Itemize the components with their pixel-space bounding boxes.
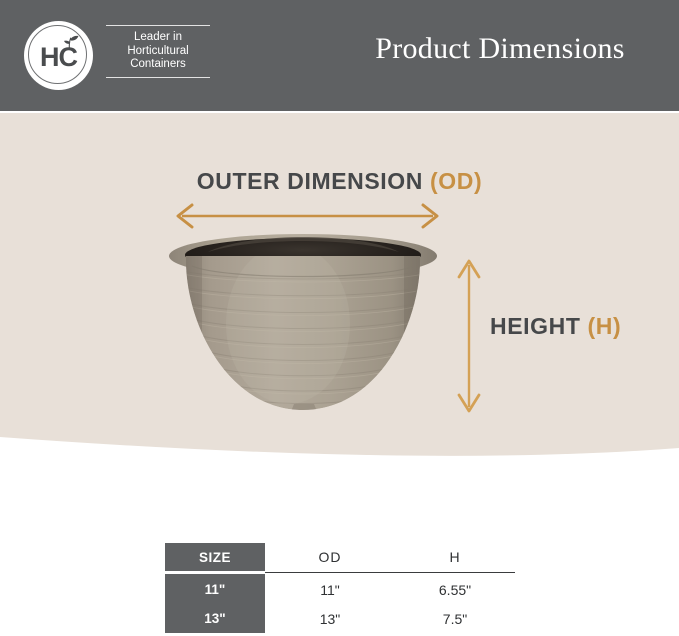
table-header-h: H bbox=[395, 543, 515, 571]
table-header-divider bbox=[265, 572, 515, 573]
table-row: 11" bbox=[165, 575, 265, 604]
header-bar: HC Leader in Horticultural Containers Pr… bbox=[0, 0, 679, 111]
height-arrow-icon bbox=[452, 255, 486, 417]
od-label-accent: (OD) bbox=[430, 168, 482, 194]
product-dimensions-infographic: HC Leader in Horticultural Containers Pr… bbox=[0, 0, 679, 636]
logo-divider-bottom bbox=[106, 77, 210, 78]
page-title: Product Dimensions bbox=[340, 32, 660, 66]
outer-dimension-arrow-icon bbox=[170, 201, 445, 231]
table-cell-h-row2: 7.5" bbox=[395, 604, 515, 633]
height-label-main: HEIGHT bbox=[490, 313, 587, 339]
brand-logo: HC Leader in Horticultural Containers bbox=[24, 21, 184, 91]
od-label-main: OUTER DIMENSION bbox=[197, 168, 430, 194]
outer-dimension-label: OUTER DIMENSION (OD) bbox=[0, 168, 679, 195]
table-row: 13" bbox=[165, 604, 265, 633]
height-label-accent: (H) bbox=[587, 313, 621, 339]
logo-tagline-line-3: Containers bbox=[106, 58, 210, 72]
logo-tagline-line-1: Leader in bbox=[106, 31, 210, 45]
logo-monogram: HC bbox=[24, 21, 93, 90]
specifications-table: SIZE OD H 11" 11" 6.55" 13" 13" 7.5" bbox=[165, 543, 515, 633]
table-cell-od-row1: 11" bbox=[265, 575, 395, 604]
table-header-size: SIZE bbox=[165, 543, 265, 571]
table-cell-h-row1: 6.55" bbox=[395, 575, 515, 604]
logo-divider-top bbox=[106, 25, 210, 26]
height-label: HEIGHT (H) bbox=[490, 313, 621, 340]
table-cell-od-row2: 13" bbox=[265, 604, 395, 633]
table-header-od: OD bbox=[265, 543, 395, 571]
leaf-sprout-icon bbox=[60, 34, 80, 50]
planter-pot-illustration bbox=[168, 228, 438, 428]
logo-tagline: Leader in Horticultural Containers bbox=[106, 25, 210, 78]
logo-tagline-line-2: Horticultural bbox=[106, 45, 210, 59]
